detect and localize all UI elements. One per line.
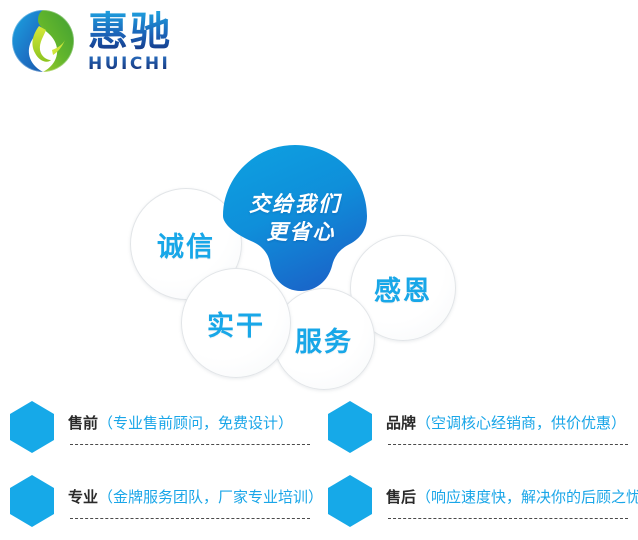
feature-title: 专业 bbox=[68, 488, 98, 506]
feature-text-block: 售前（专业售前顾问，免费设计） bbox=[68, 396, 308, 464]
values-circle-diagram: 诚信 实干 服务 感恩 交给我们 更省心 bbox=[118, 140, 468, 380]
feature-divider bbox=[388, 444, 628, 445]
brand-name-cn: 惠驰 bbox=[88, 10, 208, 54]
hexagon-icon bbox=[8, 400, 56, 454]
feature-divider bbox=[388, 518, 628, 519]
hexagon-icon bbox=[326, 400, 374, 454]
hexagon-icon bbox=[326, 474, 374, 528]
feature-desc: （专业售前顾问，免费设计） bbox=[98, 414, 293, 432]
feature-title: 品牌 bbox=[386, 414, 416, 432]
feature-line: 售前（专业售前顾问，免费设计） bbox=[68, 412, 293, 434]
diagram-node-label: 服务 bbox=[295, 320, 353, 359]
feature-desc: （响应速度快，解决你的后顾之忧） bbox=[416, 488, 638, 506]
feature-item-shouqian[interactable]: 售前（专业售前顾问，免费设计） bbox=[8, 396, 308, 466]
swirl-circle-logo-icon bbox=[6, 6, 80, 76]
hexagon-icon bbox=[8, 474, 56, 528]
feature-item-pinpai[interactable]: 品牌（空调核心经销商，供价优惠） bbox=[326, 396, 626, 466]
diagram-node-label: 实干 bbox=[207, 304, 265, 343]
feature-text-block: 品牌（空调核心经销商，供价优惠） bbox=[386, 396, 626, 464]
feature-list: 售前（专业售前顾问，免费设计） 品牌（空调核心经销商，供价优惠） 专业（ bbox=[0, 392, 638, 538]
feature-item-shouhou[interactable]: 售后（响应速度快，解决你的后顾之忧） bbox=[326, 470, 626, 540]
diagram-node-label: 诚信 bbox=[157, 225, 215, 264]
feature-title: 售后 bbox=[386, 488, 416, 506]
feature-line: 专业（金牌服务团队，厂家专业培训） bbox=[68, 486, 323, 508]
feature-line: 品牌（空调核心经销商，供价优惠） bbox=[386, 412, 626, 434]
feature-divider bbox=[70, 444, 310, 445]
feature-desc: （空调核心经销商，供价优惠） bbox=[416, 414, 626, 432]
feature-line: 售后（响应速度快，解决你的后顾之忧） bbox=[386, 486, 638, 508]
feature-desc: （金牌服务团队，厂家专业培训） bbox=[98, 488, 323, 506]
feature-title: 售前 bbox=[68, 414, 98, 432]
diagram-node-label: 感恩 bbox=[374, 269, 432, 308]
feature-item-zhuanye[interactable]: 专业（金牌服务团队，厂家专业培训） bbox=[8, 470, 308, 540]
brand-logo[interactable]: 惠驰 HUICHI bbox=[4, 2, 214, 82]
brand-wordmark: 惠驰 HUICHI bbox=[88, 10, 208, 74]
blob-circle-icon bbox=[222, 144, 368, 292]
feature-text-block: 售后（响应速度快，解决你的后顾之忧） bbox=[386, 470, 626, 538]
brand-name-en: HUICHI bbox=[88, 55, 208, 74]
feature-text-block: 专业（金牌服务团队，厂家专业培训） bbox=[68, 470, 308, 538]
feature-divider bbox=[70, 518, 310, 519]
